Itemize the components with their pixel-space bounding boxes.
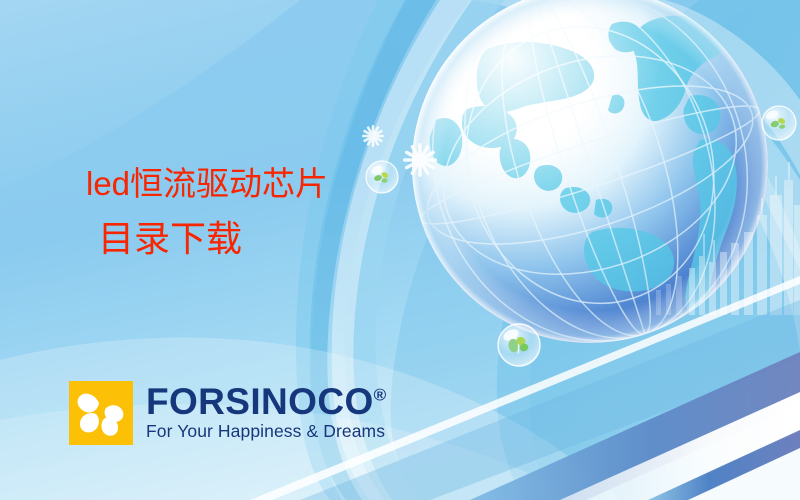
logo-tagline: For Your Happiness & Dreams — [146, 423, 386, 441]
sparkle-starburst — [403, 143, 437, 177]
marketing-banner: led恒流驱动芯片 目录下载 FORSINOCO® For Your Happi… — [0, 0, 800, 500]
bubble-with-pinwheel — [498, 324, 540, 366]
logo-text-block: FORSINOCO® For Your Happiness & Dreams — [146, 381, 386, 441]
forsinoco-pinwheel-mark — [69, 381, 133, 445]
logo-wordmark-text: FORSINOCO — [146, 381, 374, 422]
headline-line-2: 目录下载 — [86, 216, 328, 262]
registered-trademark-icon: ® — [374, 386, 387, 405]
logo-wordmark: FORSINOCO® — [146, 383, 386, 420]
headline-line-1: led恒流驱动芯片 — [86, 163, 328, 205]
company-logo: FORSINOCO® For Your Happiness & Dreams — [69, 381, 386, 445]
headline-text-block: led恒流驱动芯片 目录下载 — [86, 163, 328, 262]
bubble-with-pinwheel — [366, 161, 398, 193]
sparkle-starburst — [362, 125, 384, 147]
logo-mark-background — [69, 381, 133, 445]
bubble-with-pinwheel — [762, 106, 796, 140]
